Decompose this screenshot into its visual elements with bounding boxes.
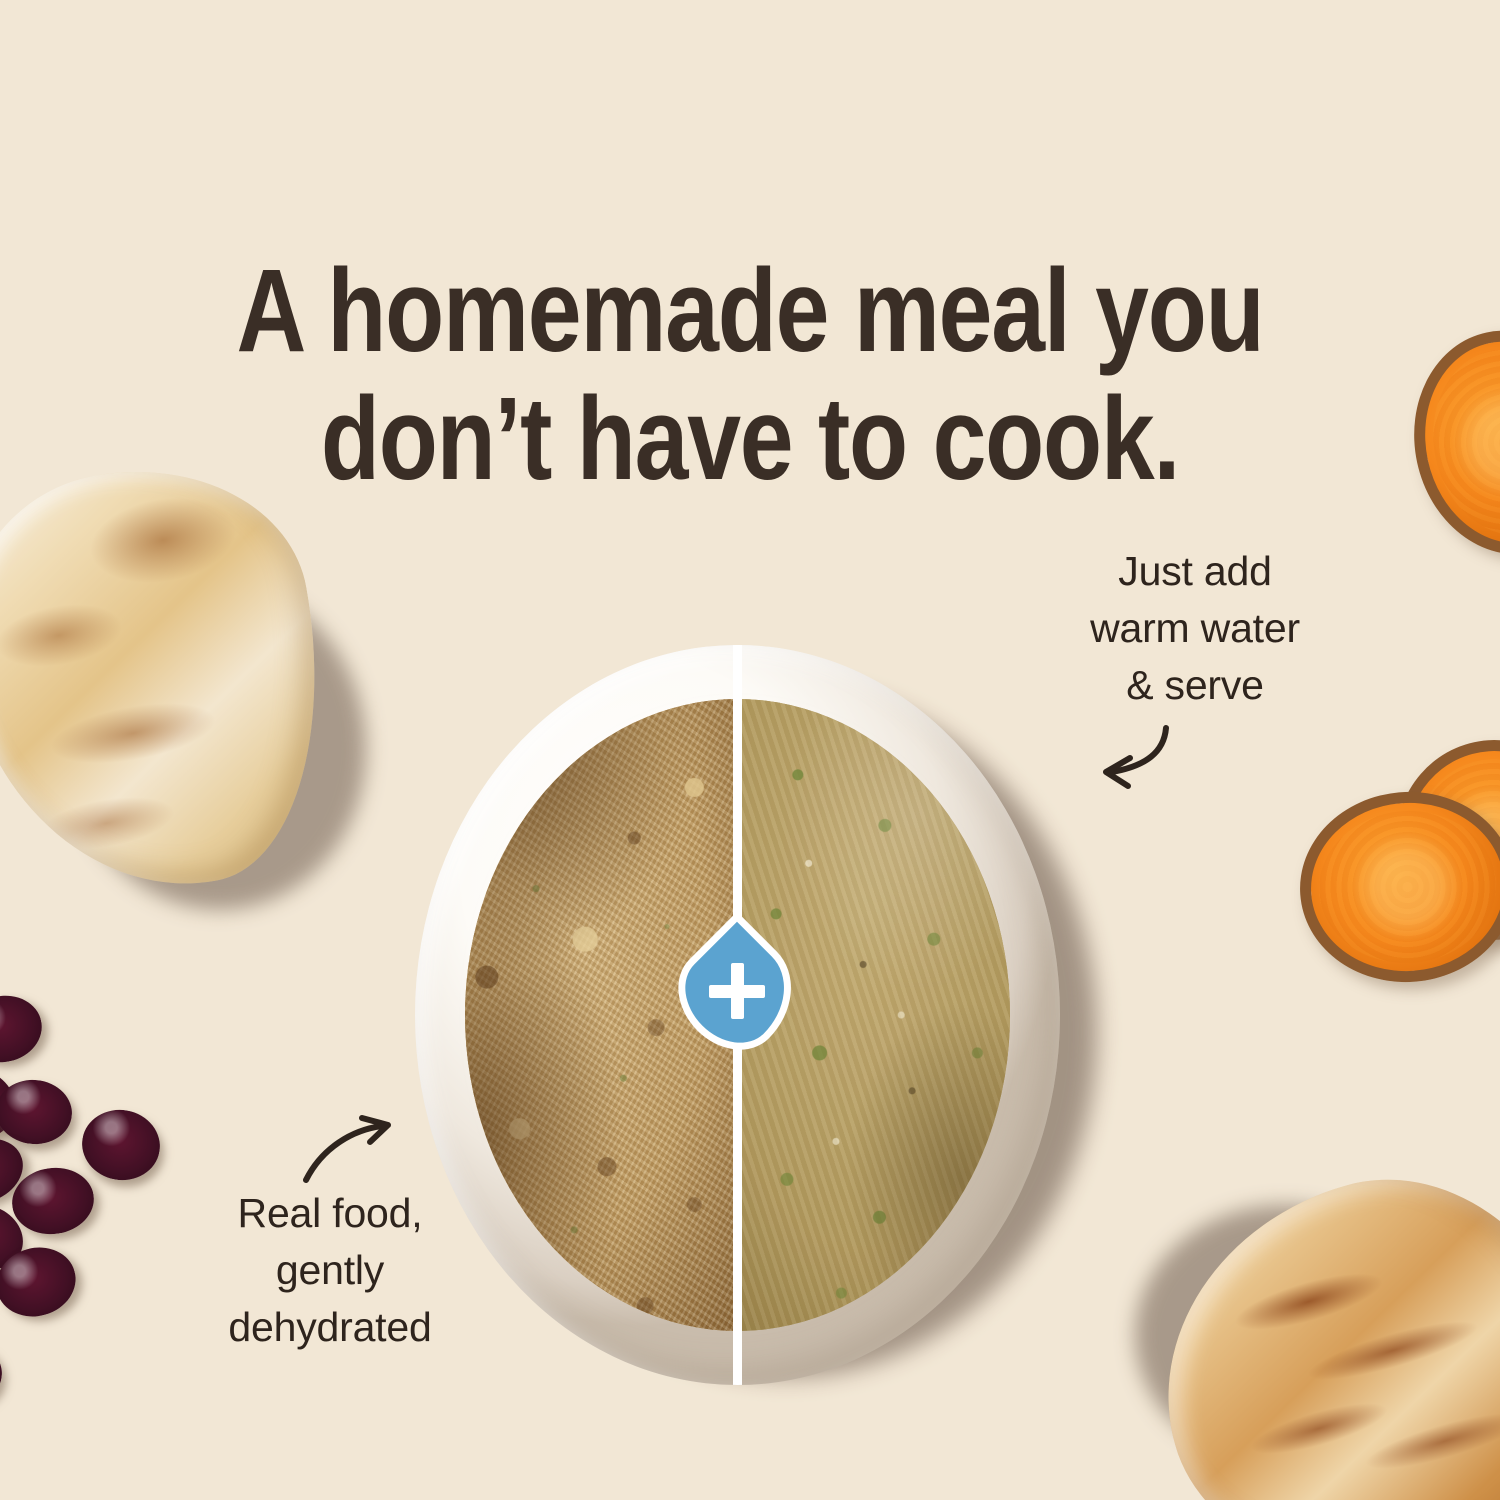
sweet-potato-slice	[1394, 313, 1500, 573]
roasted-chicken-prop	[1125, 1165, 1500, 1500]
annotation-left-line-3: dehydrated	[150, 1299, 510, 1356]
cranberry	[0, 989, 48, 1070]
curved-arrow-down-left-icon	[1080, 718, 1260, 808]
cranberry	[77, 1104, 166, 1186]
headline-line-1: A homemade meal you	[135, 247, 1365, 375]
split-comparison-bowl	[415, 645, 1060, 1385]
cranberry	[0, 1335, 6, 1409]
annotation-right-line-1: Just add	[1010, 543, 1380, 600]
sweet-potato-slices-prop	[1300, 740, 1500, 970]
curved-arrow-up-right-icon	[300, 1108, 430, 1193]
sweet-potato-slice-prop	[1415, 330, 1500, 560]
plus-icon-vertical	[731, 963, 744, 1019]
headline-line-2: don’t have to cook.	[135, 375, 1365, 503]
water-drop-plus-badge	[681, 935, 793, 1047]
cranberry	[0, 1076, 75, 1148]
fish-fillet-prop	[0, 470, 370, 920]
marketing-image: A homemade meal you don’t have to cook. …	[0, 0, 1500, 1500]
page-headline: A homemade meal you don’t have to cook.	[135, 247, 1365, 503]
annotation-left-line-2: gently	[150, 1242, 510, 1299]
annotation-left-line-1: Real food,	[150, 1185, 510, 1242]
sweet-potato-slice	[1294, 785, 1500, 990]
annotation-right-line-2: warm water	[1010, 600, 1380, 657]
annotation-just-add-warm-water: Just add warm water & serve	[1010, 543, 1380, 714]
annotation-real-food-gently-dehydrated: Real food, gently dehydrated	[150, 1185, 510, 1356]
annotation-right-line-3: & serve	[1010, 657, 1380, 714]
